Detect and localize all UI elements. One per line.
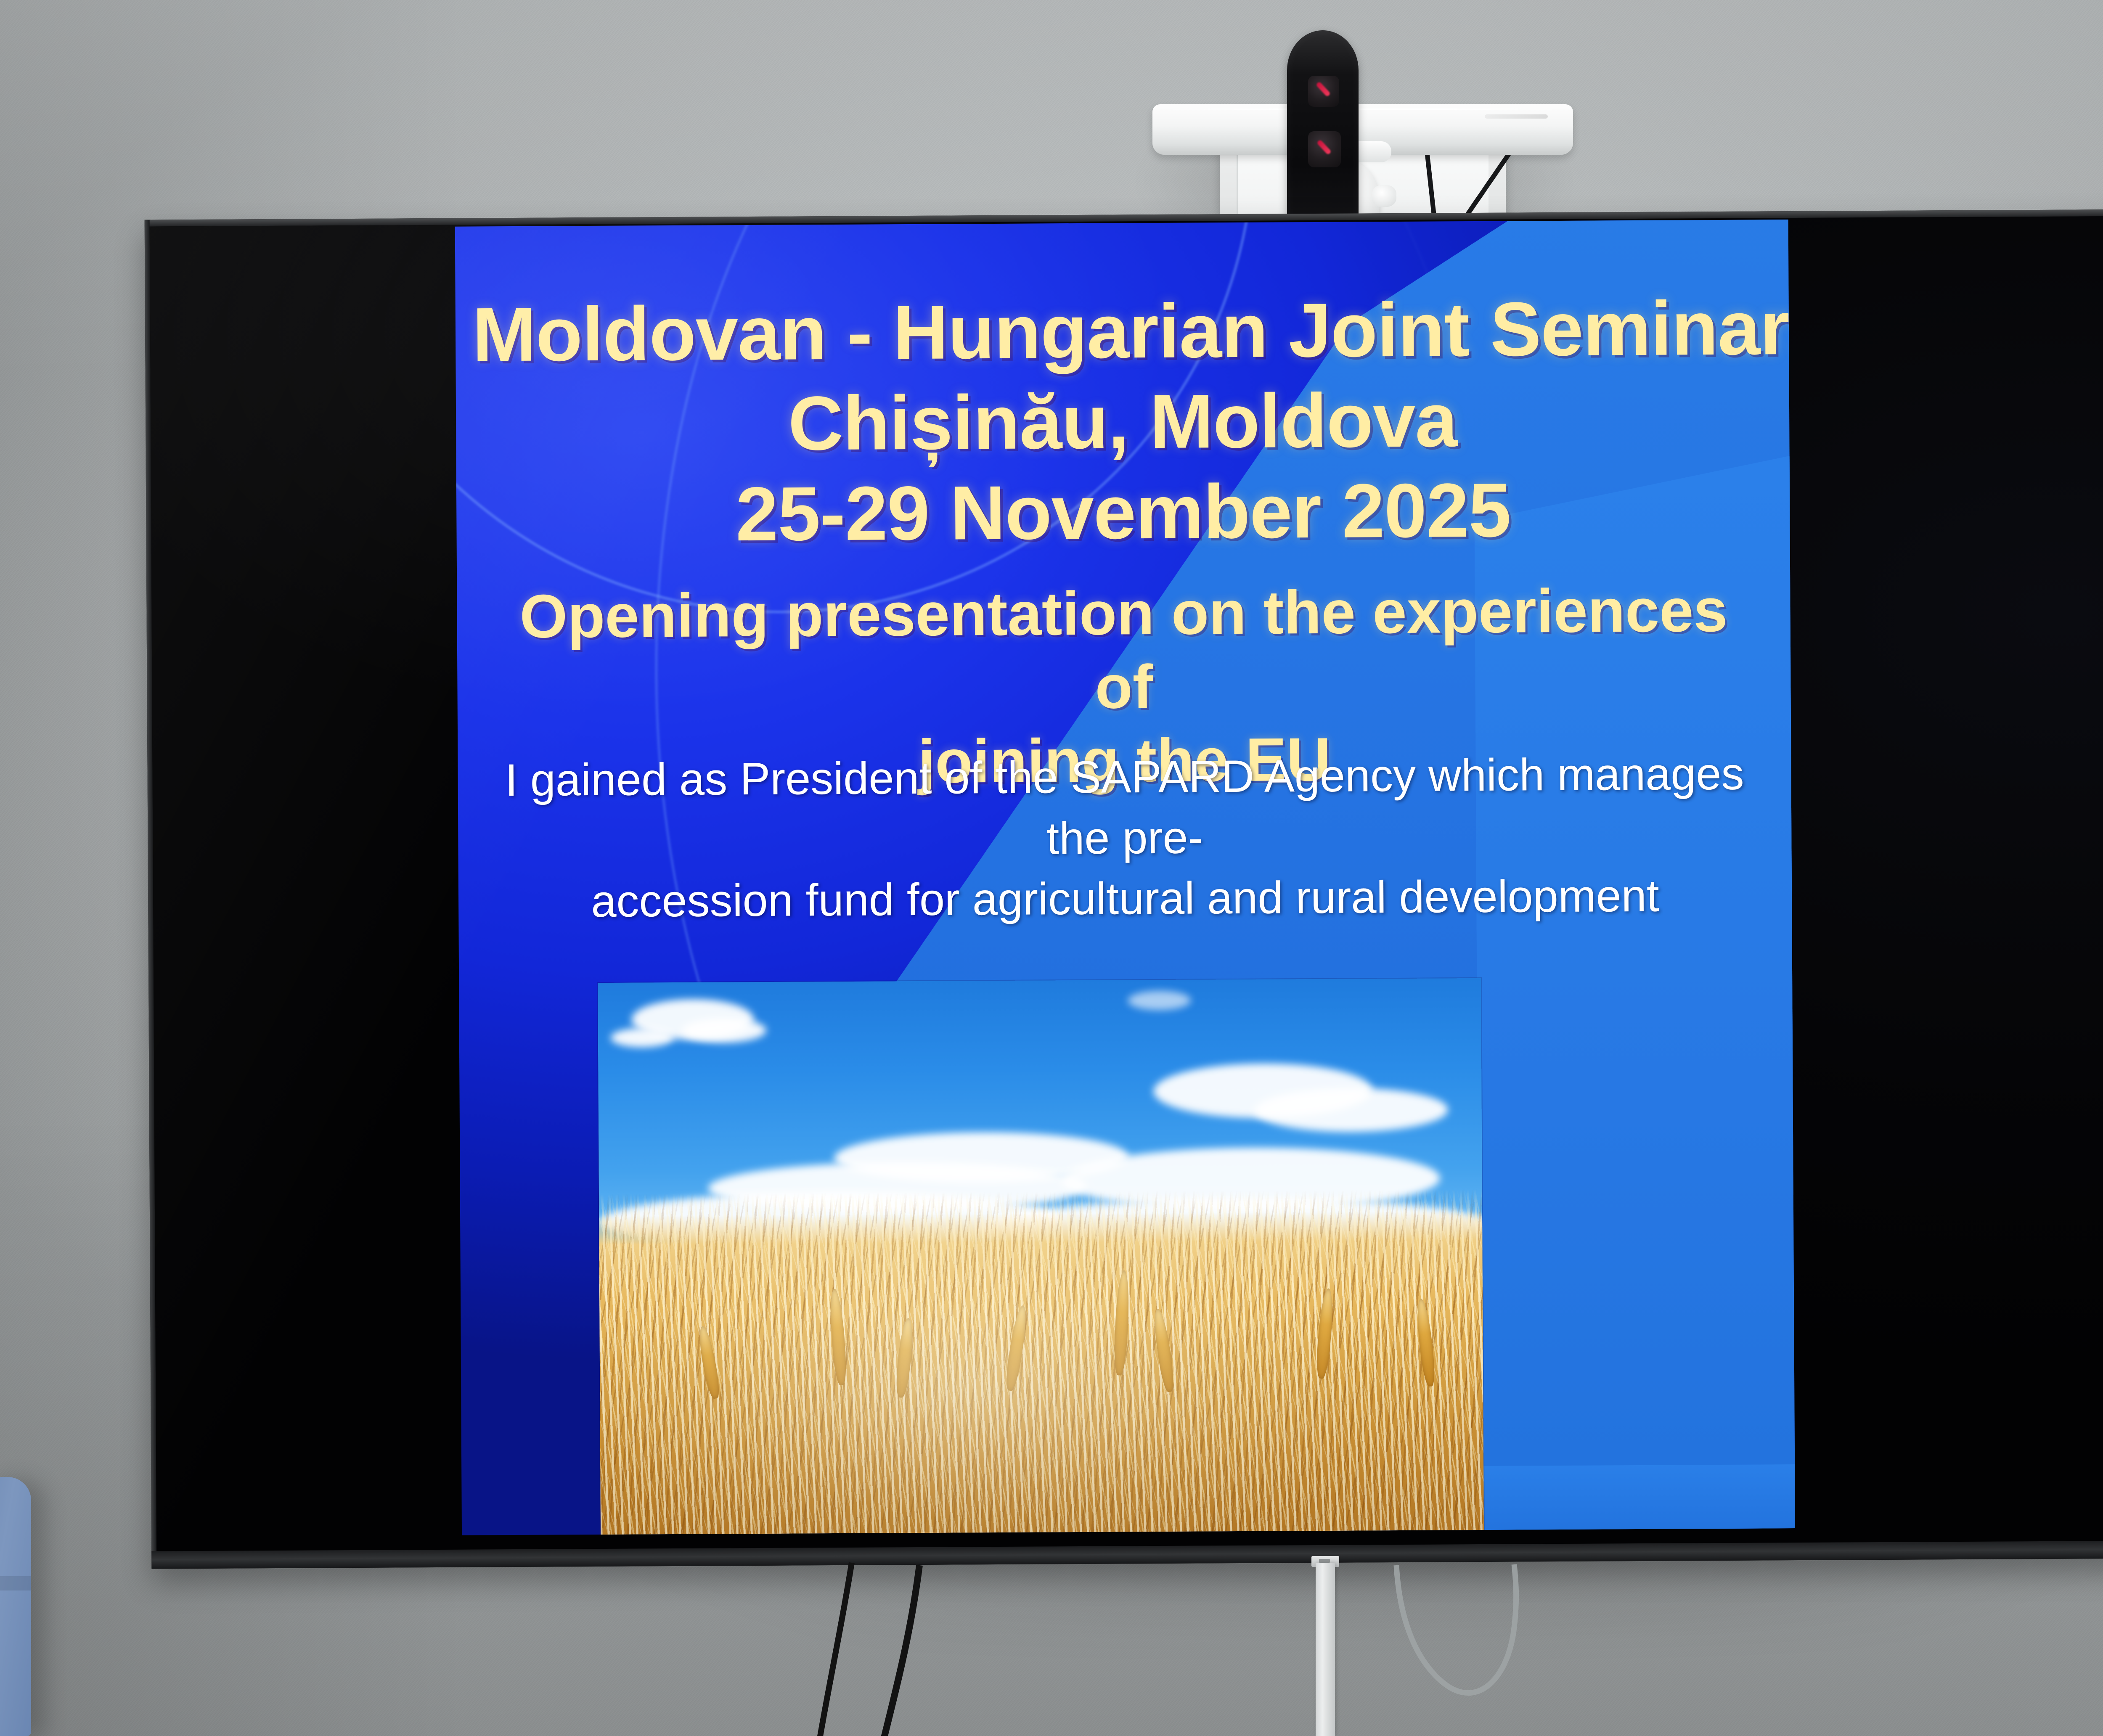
presentation-slide: Moldovan - Hungarian Joint Seminars Chiș…: [455, 220, 1795, 1535]
slide-title-line-1: Moldovan - Hungarian Joint Seminars: [472, 283, 1772, 380]
cable-conduit: [1316, 1563, 1335, 1736]
slide-title-line-2: Chișinău, Moldova: [473, 373, 1773, 470]
slide-subtitle-line-1: Opening presentation on the experiences …: [493, 573, 1755, 727]
television[interactable]: Moldovan - Hungarian Joint Seminars Chiș…: [145, 207, 2103, 1569]
cable-bundle: [0, 1531, 2103, 1736]
slide-title-line-3: 25-29 November 2025: [473, 463, 1773, 561]
slide-body-line-2: accession fund for agricultural and rura…: [474, 865, 1777, 933]
camera-bar-seam: [1485, 114, 1548, 119]
tv-screen[interactable]: Moldovan - Hungarian Joint Seminars Chiș…: [150, 214, 2103, 1551]
wheat-field-photo: [598, 978, 1484, 1535]
camera-tilt-knob[interactable]: [1372, 185, 1396, 207]
photo-shade: [598, 978, 1484, 1535]
room-scene: Moldovan - Hungarian Joint Seminars Chiș…: [0, 0, 2103, 1736]
slide-body-text: I gained as President of the SAPARD Agen…: [473, 743, 1777, 932]
slide-title: Moldovan - Hungarian Joint Seminars Chiș…: [472, 283, 1773, 560]
slide-body-line-1: I gained as President of the SAPARD Agen…: [473, 743, 1776, 872]
